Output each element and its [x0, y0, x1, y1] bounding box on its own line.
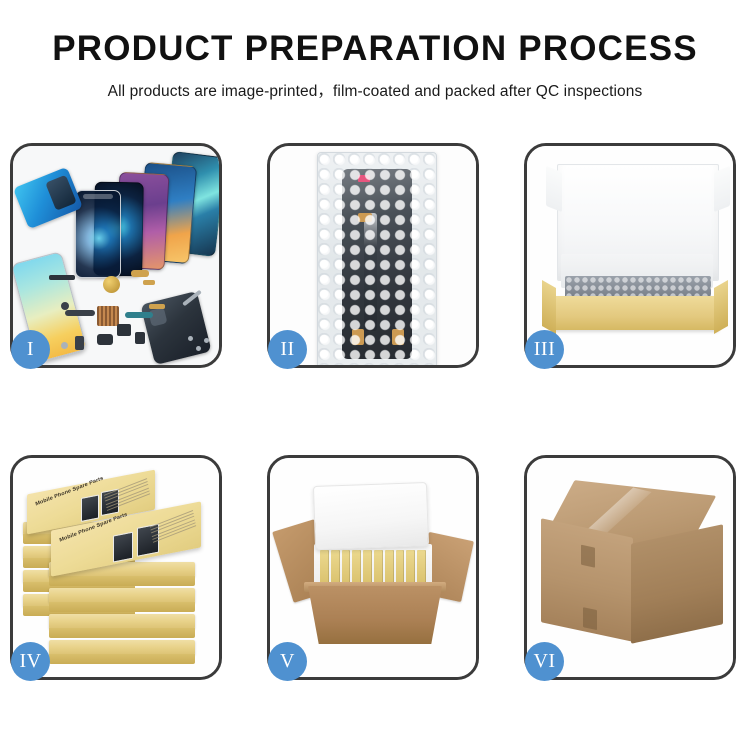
pink-label-tag — [358, 175, 370, 182]
step-badge-4: IV — [11, 642, 50, 681]
carton-body — [308, 586, 442, 644]
step-badge-3: III — [525, 330, 564, 369]
step-panel-6[interactable]: VI — [524, 455, 736, 680]
step-image-boxed-stack: Mobile Phone Spare Parts Mobile Phone Sp… — [13, 458, 219, 677]
carton-front-face — [541, 518, 633, 642]
step-image-inner-box-packing — [527, 146, 733, 365]
yellow-box-tray — [551, 296, 719, 330]
step-image-carton-loading — [270, 458, 476, 677]
flex-connector-right — [392, 329, 404, 345]
flex-connector-top — [358, 213, 372, 222]
page-title: PRODUCT PREPARATION PROCESS — [0, 31, 750, 66]
step-badge-6: VI — [525, 642, 564, 681]
product-preparation-infographic: PRODUCT PREPARATION PROCESS All products… — [0, 0, 750, 750]
step-image-raw-components — [13, 146, 219, 365]
spare-parts-scatter — [13, 146, 219, 365]
steps-grid: I II III — [10, 143, 737, 680]
sealed-shipping-carton — [541, 488, 723, 638]
step-panel-4[interactable]: Mobile Phone Spare Parts Mobile Phone Sp… — [10, 455, 222, 680]
step-panel-3[interactable]: III — [524, 143, 736, 368]
foam-lid — [313, 482, 429, 550]
header: PRODUCT PREPARATION PROCESS All products… — [0, 0, 750, 101]
step-image-sealed-carton — [527, 458, 733, 677]
step-badge-2: II — [268, 330, 307, 369]
flex-connector-left — [352, 329, 364, 345]
step-badge-5: V — [268, 642, 307, 681]
step-panel-5[interactable]: V — [267, 455, 479, 680]
bubble-wrap-bag — [317, 152, 437, 365]
retail-box-stack: Mobile Phone Spare Parts Mobile Phone Sp… — [13, 458, 219, 677]
page-subtitle: All products are image-printed，film-coat… — [0, 79, 750, 101]
step-panel-2[interactable]: II — [267, 143, 479, 368]
carton-side-face — [631, 524, 723, 644]
step-image-bubble-wrapping — [270, 146, 476, 365]
step-badge-1: I — [11, 330, 50, 369]
step-panel-1[interactable]: I — [10, 143, 222, 368]
